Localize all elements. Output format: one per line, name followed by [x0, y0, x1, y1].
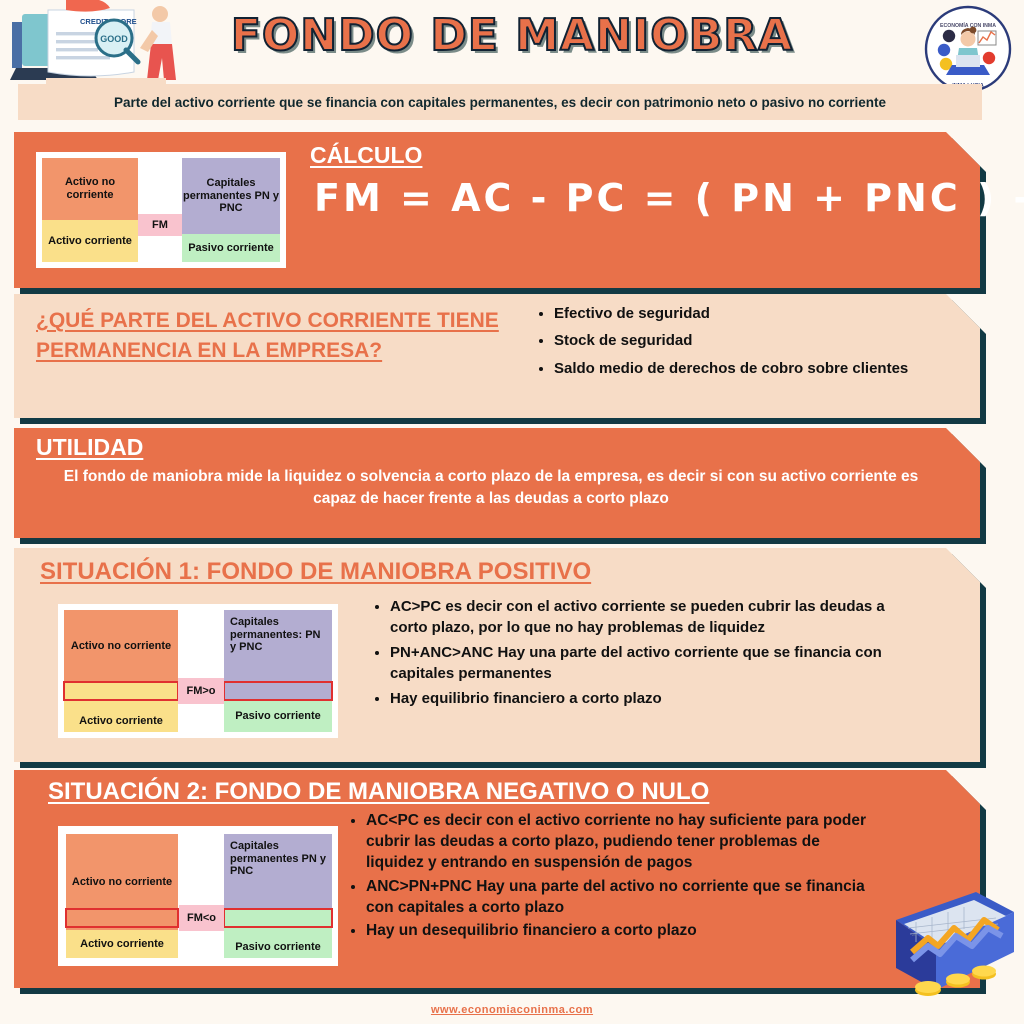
block-capitales-permanentes: Capitales permanentes PN y PNC: [224, 834, 332, 908]
list-item: Stock de seguridad: [554, 331, 930, 351]
list-situacion-1: AC>PC es decir con el activo corriente s…: [370, 596, 924, 713]
heading-que-parte: ¿QUÉ PARTE DEL ACTIVO CORRIENTE TIENE PE…: [36, 306, 516, 367]
formula-fondo-maniobra: FM = AC - PC = ( PN + PNC ) - ANC: [314, 176, 940, 220]
svg-text:20: 20: [912, 932, 917, 937]
heading-situacion-1: SITUACIÓN 1: FONDO DE MANIOBRA POSITIVO: [40, 558, 591, 586]
list-item: Saldo medio de derechos de cobro sobre c…: [554, 359, 930, 379]
block-activo-corriente: Activo corriente: [66, 930, 178, 958]
block-activo-no-corriente: Activo no corriente: [64, 610, 178, 682]
block-fm: FM: [138, 214, 182, 236]
panel-calculo: Activo no corriente Activo corriente Cap…: [14, 132, 980, 288]
list-item: Efectivo de seguridad: [554, 304, 930, 324]
subtitle-text: Parte del activo corriente que se financ…: [114, 95, 886, 110]
brand-logo: ECONOMÍA CON INMA INMA LUCIA: [920, 3, 1016, 95]
list-item: AC>PC es decir con el activo corriente s…: [390, 596, 924, 638]
block-capitales-permanentes: Capitales permanentes PN y PNC: [182, 158, 280, 234]
balance-diagram-calculo: Activo no corriente Activo corriente Cap…: [36, 152, 286, 268]
list-que-parte: Efectivo de seguridad Stock de seguridad…: [534, 304, 930, 386]
heading-utilidad: UTILIDAD: [36, 434, 143, 461]
list-item: Hay un desequilibrio financiero a corto …: [366, 920, 868, 941]
heading-calculo: CÁLCULO: [310, 142, 422, 169]
highlight-fm-right: [223, 681, 333, 701]
block-activo-no-corriente: Activo no corriente: [42, 158, 138, 220]
panel-utilidad: UTILIDAD El fondo de maniobra mide la li…: [14, 428, 980, 538]
page-title: FONDO DE MANIOBRA: [0, 10, 1024, 61]
heading-situacion-2: SITUACIÓN 2: FONDO DE MANIOBRA NEGATIVO …: [48, 778, 709, 806]
list-item: PN+ANC>ANC Hay una parte del activo corr…: [390, 642, 924, 684]
block-fm: FM<o: [179, 905, 224, 931]
highlight-fm-left: [65, 908, 179, 928]
list-item: ANC>PN+PNC Hay una parte del activo no c…: [366, 876, 868, 918]
panel-situacion-1: SITUACIÓN 1: FONDO DE MANIOBRA POSITIVO …: [14, 548, 980, 762]
subtitle-banner: Parte del activo corriente que se financ…: [18, 84, 982, 120]
chart-tablet-illustration: 20: [872, 886, 1022, 1006]
block-pasivo-corriente: Pasivo corriente: [224, 700, 332, 732]
panel-situacion-2: SITUACIÓN 2: FONDO DE MANIOBRA NEGATIVO …: [14, 770, 980, 988]
balance-diagram-situacion-2: Activo no corriente Activo corriente Cap…: [58, 826, 338, 966]
balance-diagram-situacion-1: Activo no corriente Activo corriente Cap…: [58, 604, 338, 738]
text-utilidad: El fondo de maniobra mide la liquidez o …: [48, 466, 934, 511]
block-activo-corriente: Activo corriente: [42, 220, 138, 262]
svg-text:ECONOMÍA CON INMA: ECONOMÍA CON INMA: [940, 21, 996, 29]
website-link[interactable]: www.economiaconinma.com: [431, 1004, 593, 1016]
block-pasivo-corriente: Pasivo corriente: [182, 234, 280, 262]
block-fm: FM>o: [178, 678, 224, 704]
list-item: AC<PC es decir con el activo corriente n…: [366, 810, 868, 874]
panel-que-parte: ¿QUÉ PARTE DEL ACTIVO CORRIENTE TIENE PE…: [14, 294, 980, 418]
list-item: Hay equilibrio financiero a corto plazo: [390, 688, 924, 709]
highlight-fm-right: [223, 908, 333, 928]
page-footer: www.economiaconinma.com: [0, 1000, 1024, 1018]
list-situacion-2: AC<PC es decir con el activo corriente n…: [346, 810, 868, 943]
highlight-fm-left: [63, 681, 179, 701]
page-header: CREDIT SCORE GOOD FONDO DE MANIOBRA ECON…: [0, 0, 1024, 86]
